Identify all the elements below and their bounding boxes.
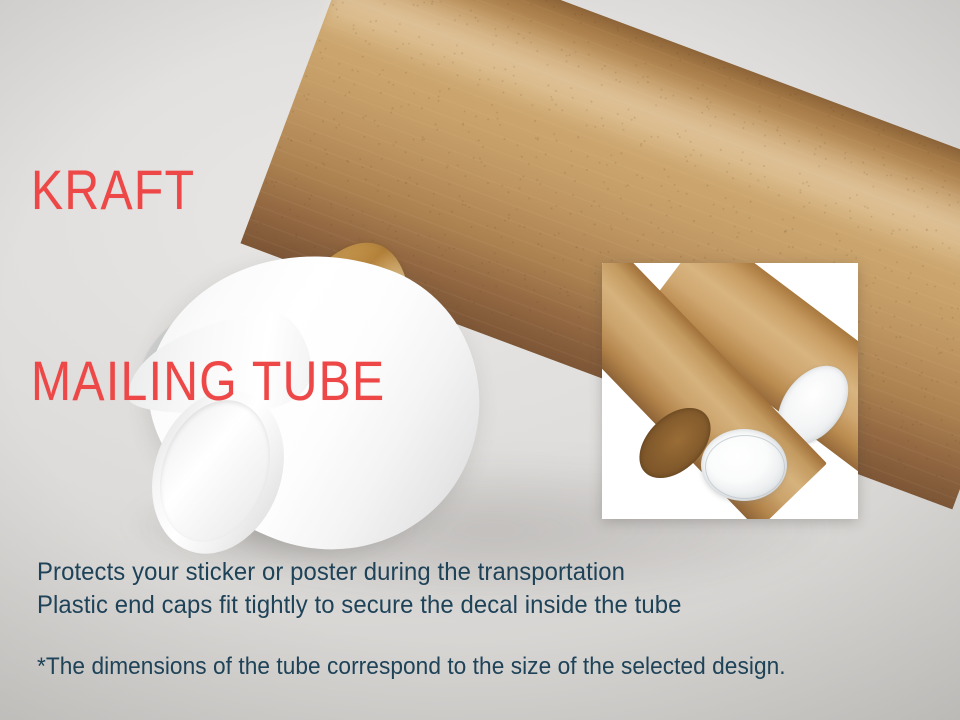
promo-banner: KRAFT MAILING TUBE Protects your sticker…	[0, 0, 960, 720]
headline-line-2: MAILING TUBE	[31, 349, 385, 413]
headline-line-1: KRAFT	[31, 158, 385, 222]
inset-photo-backdrop	[602, 263, 858, 519]
footnote-text: *The dimensions of the tube correspond t…	[37, 653, 786, 681]
inset-loose-end-cap-lip	[705, 435, 785, 499]
inset-product-photo	[602, 263, 858, 519]
feature-description: Protects your sticker or poster during t…	[37, 556, 681, 623]
feature-line-1: Protects your sticker or poster during t…	[37, 556, 681, 589]
feature-line-2: Plastic end caps fit tightly to secure t…	[37, 589, 681, 622]
page-title: KRAFT MAILING TUBE	[31, 30, 385, 541]
